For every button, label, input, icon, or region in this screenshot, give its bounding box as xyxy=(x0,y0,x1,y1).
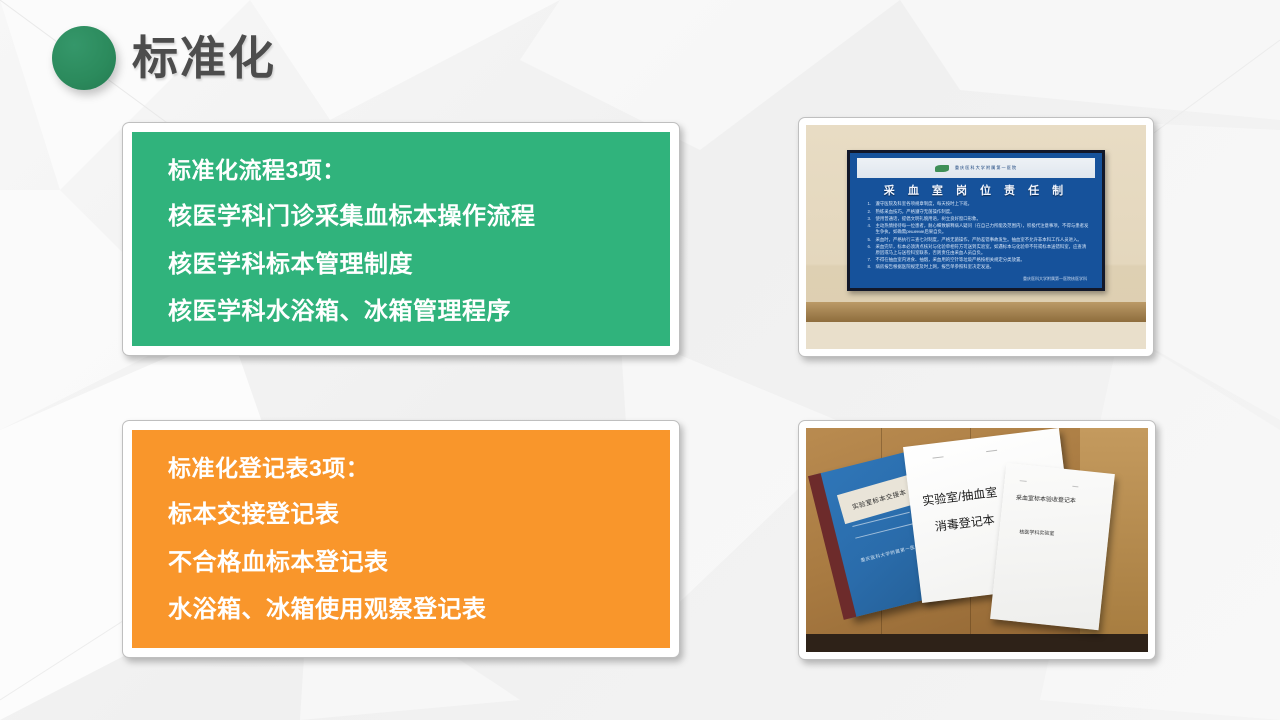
sign-rule-item: 1. 遵守医院及科室各项规章制度，每天按时上下班。 xyxy=(867,201,1089,207)
green-content-panel: 标准化流程3项： 核医学科门诊采集血标本操作流程 核医学科标本管理制度 核医学科… xyxy=(122,122,680,356)
desk-edge-shadow xyxy=(806,634,1148,652)
sign-rule-number: 1. xyxy=(867,201,875,207)
green-panel-fill: 标准化流程3项： 核医学科门诊采集血标本操作流程 核医学科标本管理制度 核医学科… xyxy=(132,132,670,346)
sign-rule-text: 病房报告根据医院规定及时上网，报告单参照科室决定发送。 xyxy=(875,264,994,270)
page-title: 标准化 xyxy=(132,35,276,81)
sign-rule-text: 主动热情接待每一位患者，耐心细致解释病人疑问（在自己力所能及范围内），积极代注意… xyxy=(875,223,1089,235)
hospital-logo-icon xyxy=(935,165,949,172)
sign-signature: 重庆医科大学附属第一医院核医学科 xyxy=(1023,276,1087,282)
sign-rule-text: 采血完毕，标本必须清点核对与化验单相符方可送到实验室。如遇标本与化验单不符或标本… xyxy=(875,244,1089,256)
paper-punch-mark xyxy=(1019,480,1026,482)
paper-punch-mark xyxy=(1072,486,1079,488)
specimen-log-line-1: 采血室标本验收登记本 xyxy=(1015,492,1075,504)
photo-wall-sign: 重庆医科大学附属第一医院 采 血 室 岗 位 责 任 制 1. 遵守医院及科室各… xyxy=(798,117,1154,357)
green-panel-item-2: 核医学科标本管理制度 xyxy=(168,252,652,278)
sign-rule-number: 7. xyxy=(867,257,875,263)
disinfection-log-line-2: 消毒登记本 xyxy=(934,510,996,534)
orange-panel-item-1: 标本交接登记表 xyxy=(168,502,652,528)
slide-title-row: 标准化 xyxy=(52,26,276,90)
sign-board-title: 采 血 室 岗 位 责 任 制 xyxy=(850,182,1102,198)
blue-sign-board: 重庆医科大学附属第一医院 采 血 室 岗 位 责 任 制 1. 遵守医院及科室各… xyxy=(847,150,1105,291)
title-bullet-circle-icon xyxy=(52,26,116,90)
orange-content-panel: 标准化登记表3项： 标本交接登记表 不合格血标本登记表 水浴箱、冰箱使用观察登记… xyxy=(122,420,680,658)
sign-rule-text: 使用普通话，提倡文明礼貌用语，树立良好窗口形象。 xyxy=(875,216,980,222)
wall-base xyxy=(806,322,1146,349)
sign-header-strip: 重庆医科大学附属第一医院 xyxy=(857,158,1094,178)
photo-wall-sign-image: 重庆医科大学附属第一医院 采 血 室 岗 位 责 任 制 1. 遵守医院及科室各… xyxy=(806,125,1146,349)
sign-rule-item: 2. 熟练采血技巧，严格遵守无菌操作制度。 xyxy=(867,209,1089,215)
sign-rule-item: 6. 采血完毕，标本必须清点核对与化验单相符方可送到实验室。如遇标本与化验单不符… xyxy=(867,244,1089,256)
green-panel-item-3: 核医学科水浴箱、冰箱管理程序 xyxy=(168,299,652,325)
sign-rule-number: 6. xyxy=(867,244,875,256)
sign-rule-item: 8. 病房报告根据医院规定及时上网，报告单参照科室决定发送。 xyxy=(867,264,1089,270)
paper-punch-mark xyxy=(986,450,997,452)
sign-rule-text: 熟练采血技巧，严格遵守无菌操作制度。 xyxy=(875,209,954,215)
sign-rule-text: 采血时，严格执行三查七对制度，严格无菌操作，严防差错事故发生。抽血室不允许非本科… xyxy=(875,237,1081,243)
sign-rule-number: 2. xyxy=(867,209,875,215)
orange-panel-heading: 标准化登记表3项： xyxy=(168,456,652,481)
binder-footer-text: 重庆医科大学附属第一医院 xyxy=(860,543,921,564)
orange-panel-item-3: 水浴箱、冰箱使用观察登记表 xyxy=(168,597,652,623)
slide-root: 标准化 标准化流程3项： 核医学科门诊采集血标本操作流程 核医学科标本管理制度 … xyxy=(0,0,1280,720)
sign-rule-number: 3. xyxy=(867,216,875,222)
sign-rule-item: 4. 主动热情接待每一位患者，耐心细致解释病人疑问（在自己力所能及范围内），积极… xyxy=(867,223,1089,235)
sign-rule-number: 8. xyxy=(867,264,875,270)
photo-log-books-image: 实验室标本交接本 重庆医科大学附属第一医院 实验室/抽血室 消毒登记本 采血室标… xyxy=(806,428,1148,652)
specimen-acceptance-log-paper: 采血室标本验收登记本 核医学科实验室 xyxy=(990,463,1115,630)
sign-rule-text: 不得在抽血室内进食、抽烟，采血用的空针等垃圾严格按相关规定分类放置。 xyxy=(875,257,1024,263)
paper-punch-mark xyxy=(933,456,944,458)
sign-rule-item: 5. 采血时，严格执行三查七对制度，严格无菌操作，严防差错事故发生。抽血室不允许… xyxy=(867,237,1089,243)
disinfection-log-line-1: 实验室/抽血室 xyxy=(921,483,998,509)
binder-rule-line xyxy=(855,524,912,539)
orange-panel-fill: 标准化登记表3项： 标本交接登记表 不合格血标本登记表 水浴箱、冰箱使用观察登记… xyxy=(132,430,670,648)
sign-rule-item: 3. 使用普通话，提倡文明礼貌用语，树立良好窗口形象。 xyxy=(867,216,1089,222)
orange-panel-item-2: 不合格血标本登记表 xyxy=(168,550,652,576)
wall-skirting xyxy=(806,302,1146,322)
sign-rule-list: 1. 遵守医院及科室各项规章制度，每天按时上下班。 2. 熟练采血技巧，严格遵守… xyxy=(867,201,1089,272)
sign-hospital-name: 重庆医科大学附属第一医院 xyxy=(955,165,1017,171)
sign-rule-item: 7. 不得在抽血室内进食、抽烟，采血用的空针等垃圾严格按相关规定分类放置。 xyxy=(867,257,1089,263)
specimen-log-line-2: 核医学科实验室 xyxy=(1018,528,1053,537)
sign-rule-number: 4. xyxy=(867,223,875,235)
green-panel-item-1: 核医学科门诊采集血标本操作流程 xyxy=(168,204,652,230)
sign-rule-number: 5. xyxy=(867,237,875,243)
photo-log-books: 实验室标本交接本 重庆医科大学附属第一医院 实验室/抽血室 消毒登记本 采血室标… xyxy=(798,420,1156,660)
green-panel-heading: 标准化流程3项： xyxy=(168,158,652,183)
sign-rule-text: 遵守医院及科室各项规章制度，每天按时上下班。 xyxy=(875,201,972,207)
